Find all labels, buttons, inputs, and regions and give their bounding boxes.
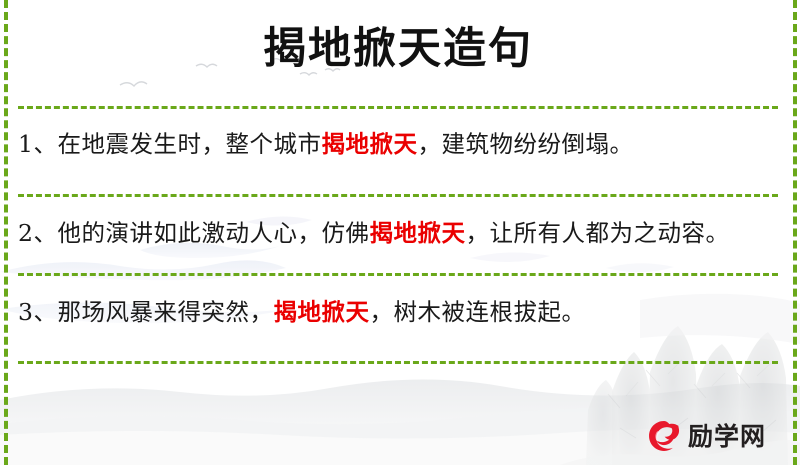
page-title: 揭地掀天造句 (18, 0, 778, 75)
idiom-highlight-2: 揭地掀天 (369, 219, 465, 247)
sentence-text-after-2: ，让所有人都为之动容。 (465, 219, 729, 247)
sentence-number-2: 2、 (18, 219, 57, 247)
sentence-item-2: 2、他的演讲如此激动人心，仿佛揭地掀天，让所有人都为之动容。 (18, 197, 778, 253)
red-swirl-bird-icon (647, 419, 681, 453)
frame-border-left (4, 0, 8, 465)
worksheet-page: 揭地掀天造句 1、在地震发生时，整个城市揭地掀天，建筑物纷纷倒塌。 2、他的演讲… (0, 0, 800, 465)
sentence-text-after-3: ，树木被连根拔起。 (369, 298, 585, 326)
sentence-item-1: 1、在地震发生时，整个城市揭地掀天，建筑物纷纷倒塌。 (18, 109, 778, 164)
divider-bottom (18, 361, 778, 364)
sentence-text-before-1: 在地震发生时，整个城市 (57, 130, 321, 158)
idiom-highlight-3: 揭地掀天 (273, 298, 369, 326)
sentence-number-1: 1、 (18, 130, 57, 158)
sentence-text-before-2: 他的演讲如此激动人心，仿佛 (57, 219, 369, 247)
frame-border-right (793, 0, 797, 465)
sentence-number-3: 3、 (18, 298, 57, 326)
sentence-item-3: 3、那场风暴来得突然，揭地掀天，树木被连根拔起。 (18, 276, 778, 332)
site-watermark[interactable]: 励学网 (647, 419, 766, 453)
sentence-text-after-1: ，建筑物纷纷倒塌。 (417, 130, 633, 158)
idiom-highlight-1: 揭地掀天 (321, 130, 417, 158)
sentence-text-before-3: 那场风暴来得突然， (57, 298, 273, 326)
brand-name: 励学网 (688, 424, 766, 449)
content-column: 揭地掀天造句 1、在地震发生时，整个城市揭地掀天，建筑物纷纷倒塌。 2、他的演讲… (0, 0, 800, 465)
